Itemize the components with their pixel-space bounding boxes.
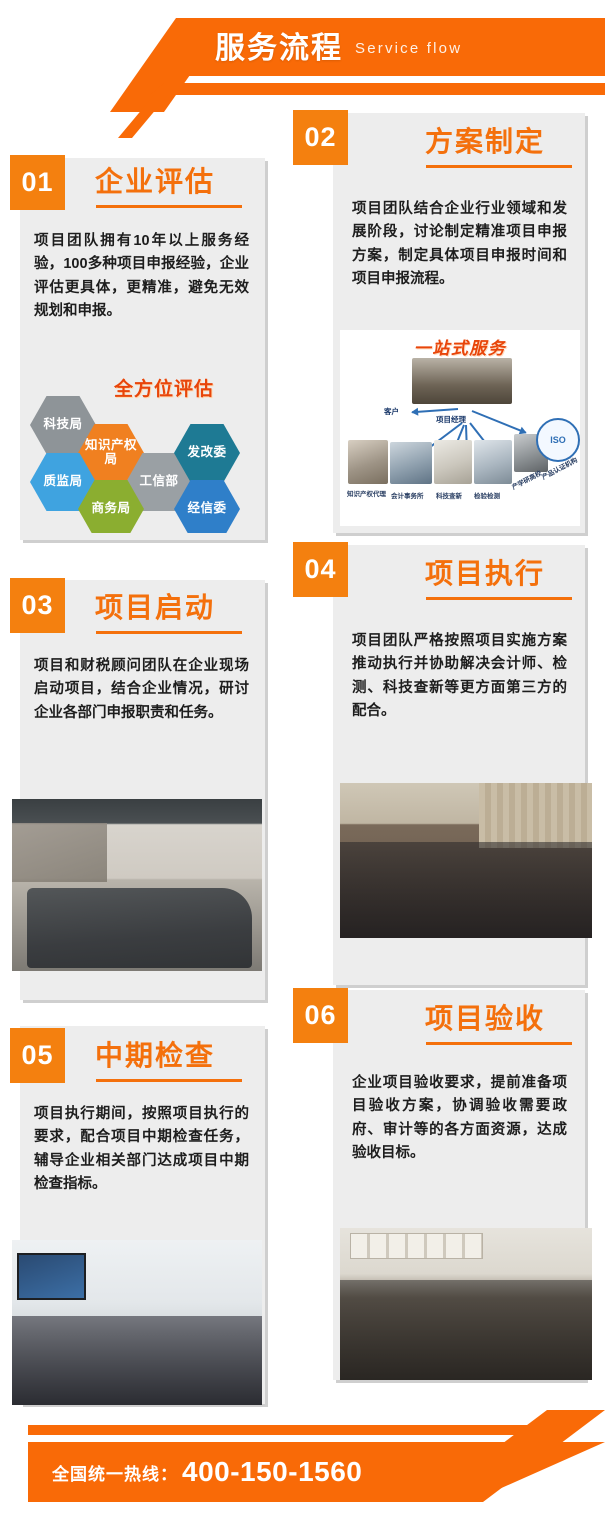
meeting-laptops-photo (340, 783, 592, 938)
page-title: 服务流程 (215, 34, 343, 64)
oss-label-ip: 知识产权代理 (347, 488, 386, 498)
footer-hotline-group: 全国统一热线： 400-150-1560 (52, 1454, 362, 1490)
hex-label: 知识产权局 (78, 439, 144, 467)
oss-thumb-ip (348, 440, 388, 484)
hex-label: 工信部 (137, 475, 180, 489)
footer-hotline-number[interactable]: 400-150-1560 (182, 1456, 362, 1488)
one-stop-service-diagram: 一站式服务 客户 项目经理 ISO 知识产权代理 会计事务所 科技查新 检验检测… (340, 330, 580, 526)
step-title-rule-01 (96, 205, 242, 208)
one-stop-service-title: 一站式服务 (414, 334, 507, 359)
step-number-badge-05: 05 (10, 1028, 65, 1083)
oss-label-novelty: 科技查新 (436, 490, 462, 500)
step-number-badge-06: 06 (293, 988, 348, 1043)
step-photo-05 (12, 1240, 262, 1405)
step-number-badge-03: 03 (10, 578, 65, 633)
oss-label-accounting: 会计事务所 (391, 490, 424, 500)
step-photo-03 (12, 799, 262, 971)
step-photo-04 (340, 783, 592, 938)
step-title-04: 项目执行 (425, 560, 545, 588)
hex-label: 经信委 (185, 502, 228, 516)
step-body-04: 项目团队严格按照项目实施方案推动执行并协助解决会计师、检测、科技查新等更方面第三… (352, 630, 567, 724)
page-footer: 全国统一热线： 400-150-1560 (0, 1424, 605, 1538)
oss-thumb-testing (474, 440, 512, 484)
service-flow-page: 服务流程 Service flow 01 企业评估 项目团队拥有10年以上服务经… (0, 0, 605, 1538)
step-title-rule-04 (426, 597, 572, 600)
oss-node-customer: 客户 (384, 406, 399, 417)
step-title-03: 项目启动 (95, 594, 215, 622)
step-number-badge-04: 04 (293, 542, 348, 597)
step-title-rule-03 (96, 631, 242, 634)
step-body-05: 项目执行期间，按照项目执行的要求，配合项目中期检查任务，辅导企业相关部门达成项目… (34, 1103, 249, 1197)
step-title-02: 方案制定 (425, 128, 545, 156)
step-title-06: 项目验收 (425, 1005, 545, 1033)
step-title-01: 企业评估 (95, 168, 215, 196)
header-text-group: 服务流程 Service flow (215, 28, 595, 70)
step-number-badge-01: 01 (10, 155, 65, 210)
oss-thumb-accounting (390, 442, 432, 484)
step-number-badge-02: 02 (293, 110, 348, 165)
hexagon-diagram: 全方位评估 科技局 知识产权局 质监局 工信部 商务局 发改委 经信委 (22, 368, 262, 533)
oss-arrow-6 (472, 410, 527, 434)
oss-label-testing: 检验检测 (474, 490, 500, 500)
step-body-01: 项目团队拥有10年以上服务经验，100多种项目申报经验，企业评估更具体，更精准，… (34, 230, 249, 324)
lobby-visit-photo (12, 1240, 262, 1405)
step-title-rule-06 (426, 1042, 572, 1045)
footer-thin-stripe (28, 1425, 565, 1435)
step-body-03: 项目和财税顾问团队在企业现场启动项目，结合企业情况，研讨企业各部门申报职责和任务… (34, 655, 249, 725)
hexagon-diagram-title: 全方位评估 (114, 374, 214, 401)
step-title-05: 中期检查 (95, 1042, 215, 1070)
step-title-rule-05 (96, 1079, 242, 1082)
page-subtitle: Service flow (355, 41, 462, 58)
header-thin-stripe (150, 83, 605, 95)
oss-arrow-1 (412, 408, 458, 413)
step-body-06: 企业项目验收要求，提前准备项目验收方案，协调验收需要政府、审计等的各方面资源，达… (352, 1072, 567, 1166)
step-photo-06 (340, 1228, 592, 1380)
step-title-rule-02 (426, 165, 572, 168)
hex-label: 质监局 (41, 475, 84, 489)
oss-hub-photo (412, 358, 512, 404)
page-header: 服务流程 Service flow (0, 0, 605, 112)
hex-label: 科技局 (41, 418, 84, 432)
footer-hotline-label: 全国统一热线： (52, 1460, 178, 1485)
step-body-02: 项目团队结合企业行业领域和发展阶段，讨论制定精准项目申报方案，制定具体项目申报时… (352, 198, 567, 292)
oss-thumb-novelty (434, 440, 472, 484)
hex-label: 商务局 (89, 502, 132, 516)
boardroom-photo (340, 1228, 592, 1380)
hex-label: 发改委 (185, 446, 228, 460)
conference-room-photo (12, 799, 262, 971)
